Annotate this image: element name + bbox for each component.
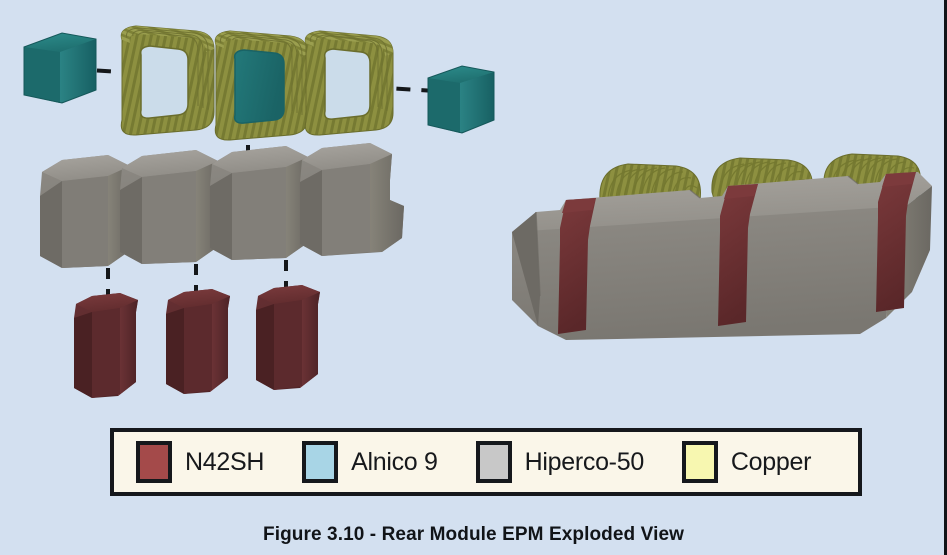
legend-entry-n42sh: N42SH bbox=[136, 441, 264, 483]
legend-swatch-alnico-9 bbox=[302, 441, 338, 483]
hiperco-core-segment-3 bbox=[210, 146, 308, 260]
copper-coil-3 bbox=[305, 31, 393, 135]
n42sh-magnet-2 bbox=[166, 289, 230, 394]
figure-page: N42SH Alnico 9 Hiperco-50 Copper Figure … bbox=[0, 0, 947, 555]
hiperco-core-segment-1 bbox=[40, 155, 130, 268]
copper-coil-1 bbox=[121, 26, 214, 135]
hiperco-core-segment-2 bbox=[120, 150, 218, 264]
figure-caption: Figure 3.10 - Rear Module EPM Exploded V… bbox=[0, 524, 947, 546]
legend-label-copper: Copper bbox=[731, 448, 811, 477]
legend-swatch-copper bbox=[682, 441, 718, 483]
n42sh-magnet-1 bbox=[74, 293, 138, 398]
figure-canvas bbox=[0, 0, 947, 420]
hiperco-core-exploded bbox=[40, 143, 404, 268]
alnico-end-block-right bbox=[428, 66, 494, 133]
epm-exploded-render bbox=[0, 0, 947, 420]
material-legend: N42SH Alnico 9 Hiperco-50 Copper bbox=[110, 428, 862, 496]
epm-assembled-render bbox=[512, 154, 932, 340]
legend-swatch-n42sh bbox=[136, 441, 172, 483]
legend-entry-hiperco-50: Hiperco-50 bbox=[476, 441, 644, 483]
legend-entry-copper: Copper bbox=[682, 441, 811, 483]
legend-label-hiperco-50: Hiperco-50 bbox=[525, 448, 644, 477]
legend-label-alnico-9: Alnico 9 bbox=[351, 448, 438, 477]
legend-swatch-hiperco-50 bbox=[476, 441, 512, 483]
legend-label-n42sh: N42SH bbox=[185, 448, 264, 477]
hiperco-core-segment-4 bbox=[300, 143, 404, 256]
alnico-core-insert bbox=[235, 50, 284, 123]
alnico-end-block-left bbox=[24, 33, 96, 103]
n42sh-magnet-3 bbox=[256, 285, 320, 390]
legend-entry-alnico-9: Alnico 9 bbox=[302, 441, 438, 483]
copper-coil-2 bbox=[215, 31, 308, 140]
